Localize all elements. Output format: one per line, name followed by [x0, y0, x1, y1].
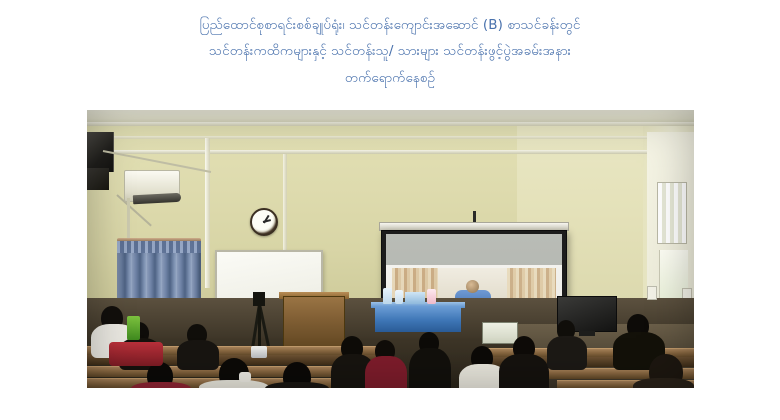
video-speaker-head — [466, 280, 479, 293]
curtain-pleats — [117, 241, 201, 253]
air-conditioner-pipe — [127, 198, 130, 240]
photo-caption: ပြည်ထောင်စုစာရင်းစစ်ချုပ်ရုံး၊ သင်တန်းကျ… — [0, 12, 780, 91]
window-glass-louvers — [657, 182, 687, 244]
water-bottle-1 — [383, 288, 392, 304]
caption-line-1: ပြည်ထောင်စုစာရင်းစစ်ချုပ်ရုံး၊ သင်တန်းကျ… — [0, 12, 780, 38]
table-supplies — [405, 292, 425, 304]
classroom-photo — [87, 110, 694, 388]
face-mask — [239, 372, 251, 382]
conduit-upper — [87, 136, 694, 139]
wall-notice — [647, 286, 657, 300]
caption-line-2: သင်တန်းကထိကများနှင့် သင်တန်းသူ/ သားများ … — [0, 38, 780, 64]
camera-tripod-icon — [253, 292, 265, 306]
wall-poster — [482, 322, 518, 344]
red-bag — [109, 342, 163, 366]
television-stand — [579, 331, 595, 336]
handheld-device — [251, 346, 267, 358]
conduit-vertical-left — [205, 138, 210, 288]
blue-skirted-table-icon — [375, 306, 461, 332]
conduit-horizontal — [87, 150, 694, 154]
water-bottle-3 — [427, 289, 436, 304]
page-root: ပြည်ထောင်စုစာရင်းစစ်ချုပ်ရုံး၊ သင်တန်းကျ… — [0, 0, 780, 420]
caption-line-3: တက်ရောက်နေစဉ် — [0, 65, 780, 91]
water-bottle-2 — [395, 290, 403, 304]
green-tumbler — [127, 316, 140, 340]
wall-speaker-lower — [87, 168, 109, 190]
tripod-leg-center — [258, 304, 261, 348]
